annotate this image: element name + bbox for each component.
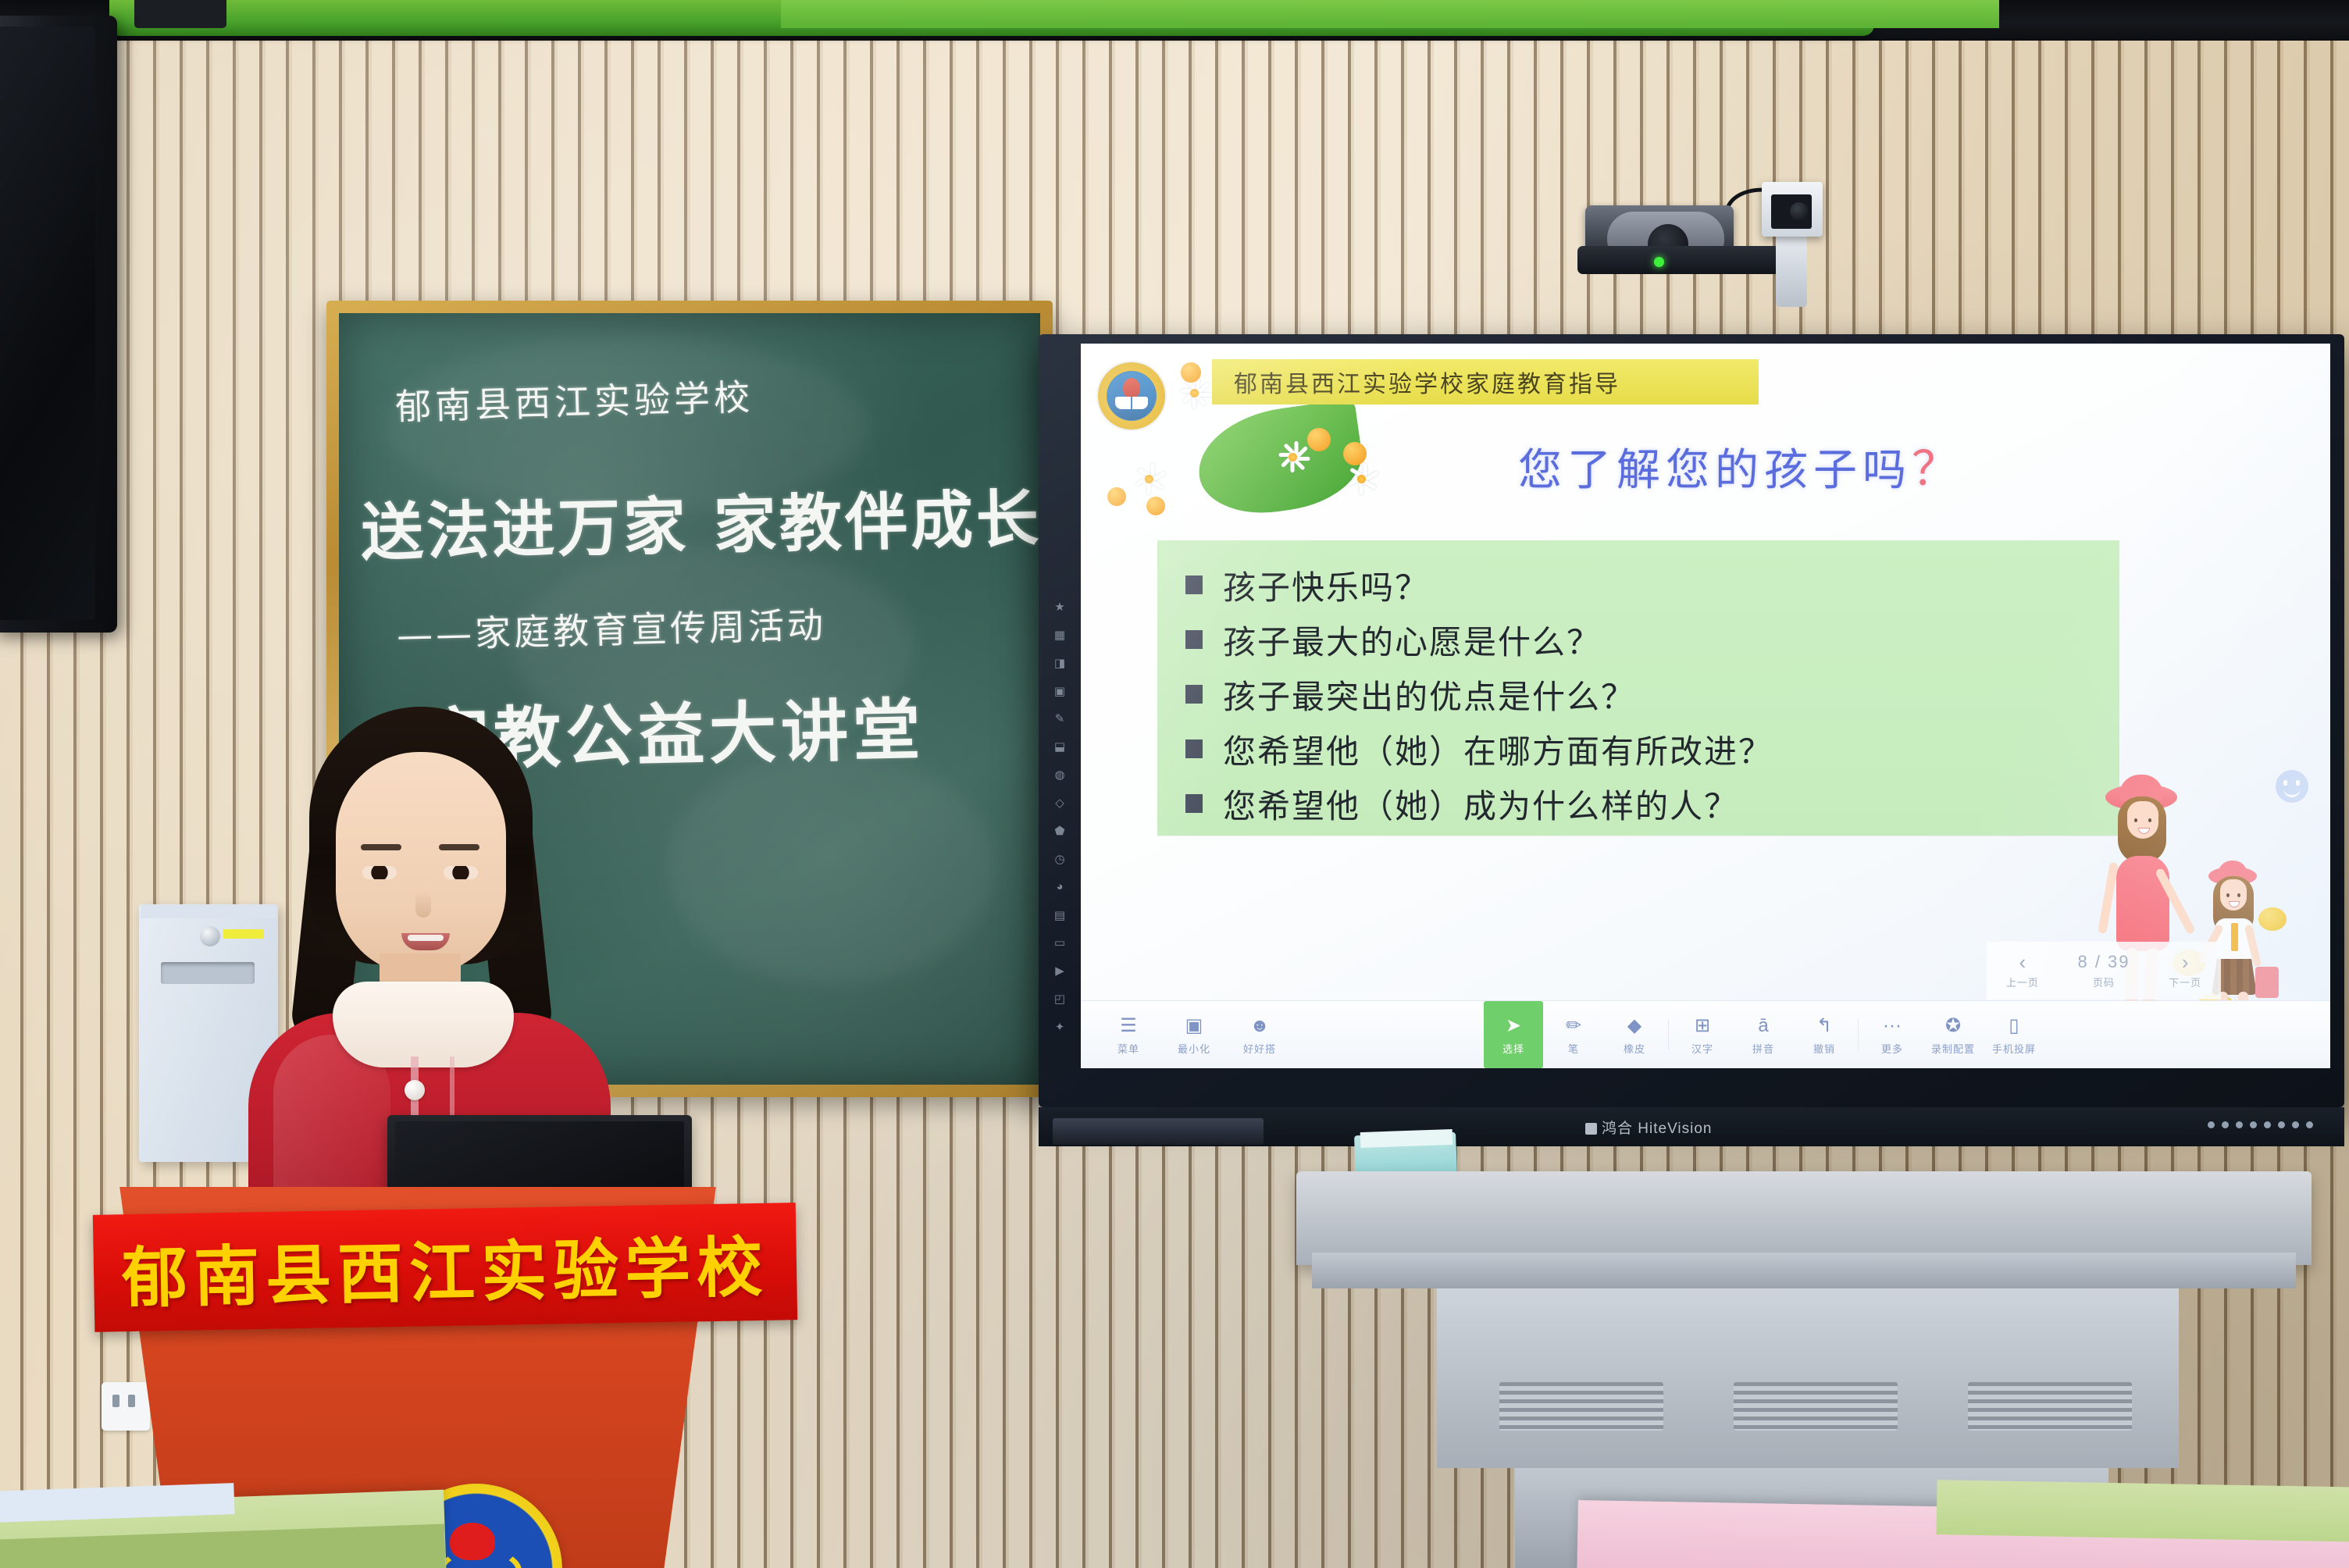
more-icon: ··· — [1883, 1014, 1902, 1038]
interactive-smartboard[interactable]: ★ ▦ ◨ ▣ ✎ ⬓ ◍ ◇ ⬟ ◷ ◕ ▤ ▭ ▶ ◰ ✦ — [1039, 334, 2344, 1107]
slide-title-text: 您了解您的孩子吗 — [1518, 445, 1912, 496]
menu-icon: ☰ — [1120, 1014, 1137, 1038]
bullet-square-icon — [1185, 739, 1203, 758]
minimize-icon: ▣ — [1185, 1014, 1203, 1038]
slide-bullet-panel: 孩子快乐吗？ 孩子最大的心愿是什么？ 孩子最突出的优点是什么？ 您希望他（她）在… — [1157, 540, 2119, 836]
smartboard-screen[interactable]: 郁南县西江实验学校家庭教育指导 您了解您的孩子吗？ 孩子快乐吗？ 孩子最大的心愿… — [1081, 344, 2330, 1068]
marker-tray — [1053, 1118, 1264, 1145]
smartboard-brand: 鸿合 HiteVision — [1585, 1117, 1712, 1138]
tool-pen-label: 笔 — [1568, 1041, 1579, 1056]
presentation-slide: 郁南县西江实验学校家庭教育指导 您了解您的孩子吗？ 孩子快乐吗？ 孩子最大的心愿… — [1081, 344, 2330, 1068]
settings-icon[interactable]: ✦ — [1050, 1018, 1069, 1035]
camera-status-led — [1654, 257, 1664, 267]
green-ceiling-trim-inner — [781, 0, 1999, 28]
menu-button[interactable]: ☰ 菜单 — [1098, 1007, 1159, 1063]
power-socket — [102, 1382, 150, 1431]
minimize-button[interactable]: ▣ 最小化 — [1164, 1007, 1224, 1063]
toolbar-left-group[interactable]: ☰ 菜单 ▣ 最小化 ☻ 好好搭 — [1081, 1007, 1290, 1063]
brand-text: 鸿合 HiteVision — [1602, 1121, 1712, 1137]
cast-icon[interactable]: ◰ — [1050, 990, 1069, 1007]
tool-eraser[interactable]: ◆ 橡皮 — [1604, 1007, 1665, 1063]
podium-banner: 郁南县西江实验学校 — [93, 1203, 797, 1332]
spotlight-icon[interactable]: ◍ — [1050, 766, 1069, 783]
bullet-item: 您希望他（她）成为什么样的人？ — [1157, 776, 2119, 831]
board-icon[interactable]: ▭ — [1050, 935, 1069, 952]
timer-icon[interactable]: ◷ — [1050, 850, 1069, 868]
tool-pen[interactable]: ✏ 笔 — [1543, 1007, 1604, 1063]
tool-more-label: 更多 — [1881, 1041, 1903, 1056]
tool-phone-cast[interactable]: ▯ 手机投屏 — [1984, 1007, 2044, 1063]
page-number-label: 页码 — [2093, 975, 2115, 989]
slide-header-text: 郁南县西江实验学校家庭教育指导 — [1234, 365, 1620, 399]
bullet-text: 您希望他（她）在哪方面有所改进？ — [1223, 725, 1773, 773]
box-camera — [1762, 182, 1823, 237]
bullet-text: 孩子快乐吗？ — [1223, 561, 1429, 609]
assistant-label: 好好搭 — [1243, 1041, 1276, 1056]
phone-cast-icon: ▯ — [2009, 1014, 2019, 1038]
stamp-icon[interactable]: ⬟ — [1050, 822, 1069, 839]
chevron-right-icon: › — [2182, 952, 2189, 972]
tool-eraser-label: 橡皮 — [1624, 1041, 1645, 1056]
ceiling-mount-box — [134, 0, 226, 28]
presenter-face — [336, 752, 506, 975]
eraser-icon[interactable]: ◇ — [1050, 794, 1069, 811]
slide-header-banner: 郁南县西江实验学校家庭教育指导 — [1212, 359, 1759, 404]
orange-dot-decoration — [1107, 487, 1126, 506]
video-icon[interactable]: ▶ — [1050, 962, 1069, 979]
bullet-square-icon — [1185, 576, 1203, 594]
undo-icon: ↰ — [1816, 1014, 1832, 1038]
record-icon: ✪ — [1945, 1014, 1961, 1038]
clock-icon[interactable]: ◕ — [1050, 878, 1069, 896]
brand-mark-icon — [1585, 1123, 1597, 1135]
daisy-icon — [1131, 461, 1167, 497]
window-icon[interactable]: ▣ — [1050, 682, 1069, 700]
podium-banner-text: 郁南县西江实验学校 — [121, 1214, 769, 1320]
hanzi-icon: ⊞ — [1695, 1014, 1710, 1038]
pinyin-icon: ā — [1758, 1014, 1768, 1038]
page-indicator[interactable]: 8 / 39 页码 — [2077, 952, 2130, 989]
bullet-text: 孩子最突出的优点是什么？ — [1223, 671, 1635, 718]
tool-undo[interactable]: ↰ 撤销 — [1794, 1007, 1855, 1063]
wall-tv[interactable] — [0, 16, 117, 633]
orange-dot-decoration — [1343, 442, 1367, 465]
orange-dot-decoration — [1146, 497, 1165, 515]
camera-mount-bar — [1577, 246, 1780, 274]
question-mark-icon: ？ — [1912, 442, 1964, 497]
bullet-item: 孩子最突出的优点是什么？ — [1157, 667, 2119, 722]
next-page-button[interactable]: › 下一页 — [2169, 952, 2201, 989]
cursor-icon: ➤ — [1506, 1014, 1521, 1038]
tool-record-config[interactable]: ✪ 录制配置 — [1923, 1007, 1984, 1063]
gallery-icon[interactable]: ◨ — [1050, 654, 1069, 672]
blackboard-line-3: ——家庭教育宣传周活动 — [396, 597, 826, 658]
orange-dot-decoration — [1307, 428, 1331, 451]
tool-hanzi[interactable]: ⊞ 汉字 — [1672, 1007, 1733, 1063]
classroom-scene: 郁南县西江实验学校 送法进万家 家教伴成长 ——家庭教育宣传周活动 家教公益大讲… — [0, 0, 2349, 1568]
star-icon[interactable]: ★ — [1050, 598, 1069, 615]
smartboard-toolbar[interactable]: ☰ 菜单 ▣ 最小化 ☻ 好好搭 ➤ 选择 — [1081, 1000, 2330, 1068]
chevron-left-icon: ‹ — [2019, 952, 2026, 972]
tool-select[interactable]: ➤ 选择 — [1484, 1001, 1543, 1068]
menu-label: 菜单 — [1117, 1041, 1139, 1056]
tool-undo-label: 撤销 — [1813, 1041, 1835, 1056]
tool-select-label: 选择 — [1502, 1041, 1524, 1056]
school-bag-icon — [2255, 967, 2279, 998]
next-page-label: 下一页 — [2169, 975, 2201, 989]
bullet-square-icon — [1185, 630, 1203, 649]
slide-page-navigation[interactable]: ‹ 上一页 8 / 39 页码 › 下一页 — [1987, 942, 2221, 1000]
tool-pinyin[interactable]: ā 拼音 — [1733, 1007, 1794, 1063]
tool-record-label: 录制配置 — [1931, 1041, 1975, 1056]
tool-hanzi-label: 汉字 — [1691, 1041, 1713, 1056]
blackboard-line-2: 送法进万家 家教伴成长 — [360, 469, 1040, 573]
eraser-icon: ◆ — [1627, 1014, 1641, 1038]
foreground-table-right-green — [1936, 1480, 2349, 1542]
tool-pinyin-label: 拼音 — [1752, 1041, 1774, 1056]
smartboard-side-toolbar[interactable]: ★ ▦ ◨ ▣ ✎ ⬓ ◍ ◇ ⬟ ◷ ◕ ▤ ▭ ▶ ◰ ✦ — [1042, 592, 1078, 1035]
toolbar-divider — [1858, 1019, 1859, 1050]
lock-icon — [200, 926, 220, 946]
trolley-top — [1296, 1171, 2312, 1265]
trolley-green-panel-top — [1360, 1129, 1453, 1148]
slide-title: 您了解您的孩子吗？ — [1518, 431, 1964, 499]
trolley-body — [1437, 1288, 2179, 1468]
orange-dot-decoration — [1181, 362, 1201, 383]
assistant-button[interactable]: ☻ 好好搭 — [1229, 1007, 1290, 1063]
bullet-text: 您希望他（她）成为什么样的人？ — [1223, 780, 1738, 828]
minimize-label: 最小化 — [1178, 1041, 1210, 1056]
box-camera-mount — [1776, 235, 1807, 307]
camera-cluster — [1577, 168, 1835, 308]
wall-tv-screen — [0, 27, 95, 620]
screenshot-icon[interactable]: ⬓ — [1050, 738, 1069, 755]
school-logo-icon — [1098, 362, 1165, 429]
tool-cast-label: 手机投屏 — [1992, 1041, 2036, 1056]
page-number-text: 8 / 39 — [2077, 952, 2130, 972]
bullet-item: 孩子最大的心愿是什么？ — [1157, 612, 2119, 667]
blackboard-line-1: 郁南县西江实验学校 — [394, 369, 754, 431]
prev-page-button[interactable]: ‹ 上一页 — [2006, 952, 2039, 989]
smiley-face-icon — [2276, 770, 2308, 803]
apps-icon[interactable]: ▦ — [1050, 626, 1069, 643]
presenter-collar — [333, 982, 514, 1067]
bullet-square-icon — [1185, 685, 1203, 704]
bullet-square-icon — [1185, 794, 1203, 813]
pen-icon: ✏ — [1566, 1014, 1581, 1038]
bullet-item: 孩子快乐吗？ — [1157, 558, 2119, 612]
box-camera-lens — [1771, 194, 1812, 229]
daisy-icon — [1343, 461, 1379, 497]
bullet-text: 孩子最大的心愿是什么？ — [1223, 616, 1601, 664]
bullet-item: 您希望他（她）在哪方面有所改进？ — [1157, 722, 2119, 776]
calculator-icon[interactable]: ▤ — [1050, 907, 1069, 924]
ir-sensor-strip — [2208, 1121, 2313, 1128]
trolley-top-edge — [1312, 1253, 2296, 1288]
pen-icon[interactable]: ✎ — [1050, 711, 1069, 728]
prev-page-label: 上一页 — [2006, 975, 2039, 989]
toolbar-tools-group[interactable]: ➤ 选择 ✏ 笔 ◆ 橡皮 ⊞ 汉字 — [1484, 1001, 2044, 1068]
toolbar-divider — [1668, 1019, 1669, 1050]
avatar-icon: ☻ — [1249, 1014, 1269, 1038]
tool-more[interactable]: ··· 更多 — [1862, 1007, 1923, 1063]
